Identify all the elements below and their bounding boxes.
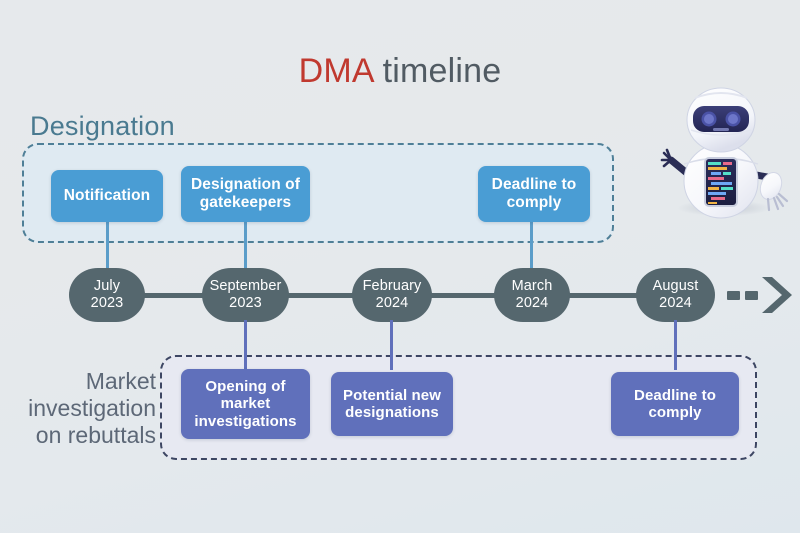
slide-canvas: DMA timeline Designation Notification De… (0, 0, 800, 533)
designation-caption: Designation (30, 111, 175, 142)
connector-deadline-comply-top (530, 222, 533, 272)
node-month: July (91, 278, 124, 295)
node-year: 2024 (363, 295, 422, 312)
event-line: Notification (64, 187, 150, 204)
event-box-potential-new-designations[interactable]: Potential new designations (331, 372, 453, 436)
event-line: gatekeepers (200, 194, 292, 211)
caption-line: investigation (8, 395, 156, 422)
event-box-deadline-to-comply-top[interactable]: Deadline to comply (478, 166, 590, 222)
timeline-node-march-2024[interactable]: March 2024 (494, 268, 570, 322)
timeline-node-july-2023[interactable]: July 2023 (69, 268, 145, 322)
event-box-opening-of-market-investigations[interactable]: Opening of market investigations (181, 369, 310, 439)
connector-opening-investigations (244, 320, 247, 370)
node-month: March (512, 278, 553, 295)
event-box-designation-of-gatekeepers[interactable]: Designation of gatekeepers (181, 166, 310, 222)
connector-potential-new-designations (390, 320, 393, 370)
node-year: 2024 (512, 295, 553, 312)
timeline-node-february-2024[interactable]: February 2024 (352, 268, 432, 322)
robot-mascot-icon (655, 78, 795, 228)
event-line: Designation of (191, 176, 300, 193)
event-line: Opening (205, 378, 267, 395)
page-title-rest: timeline (373, 52, 501, 90)
event-line: Potential new (343, 387, 441, 404)
timeline-dash-2 (745, 291, 758, 300)
connector-designation-gatekeepers (244, 222, 247, 272)
caption-line: on rebuttals (8, 422, 156, 449)
event-box-deadline-to-comply-bottom[interactable]: Deadline to comply (611, 372, 739, 436)
timeline-node-september-2023[interactable]: September 2023 (202, 268, 289, 322)
market-investigation-caption: Market investigation on rebuttals (8, 368, 156, 449)
node-year: 2024 (653, 295, 699, 312)
node-year: 2023 (210, 295, 282, 312)
timeline-arrow-icon (760, 275, 796, 320)
connector-notification (106, 222, 109, 272)
timeline-node-august-2024[interactable]: August 2024 (636, 268, 715, 322)
caption-line: Market (8, 368, 156, 395)
event-line: designations (345, 404, 439, 421)
node-year: 2023 (91, 295, 124, 312)
page-title-accent: DMA (299, 52, 373, 90)
event-box-notification[interactable]: Notification (51, 170, 163, 222)
event-line: investigations (194, 413, 296, 430)
event-line: Deadline (492, 176, 557, 193)
connector-deadline-comply-bottom (674, 320, 677, 370)
node-month: September (210, 278, 282, 295)
timeline-dash-1 (727, 291, 740, 300)
event-line: Deadline (634, 387, 697, 404)
node-month: February (363, 278, 422, 295)
node-month: August (653, 278, 699, 295)
